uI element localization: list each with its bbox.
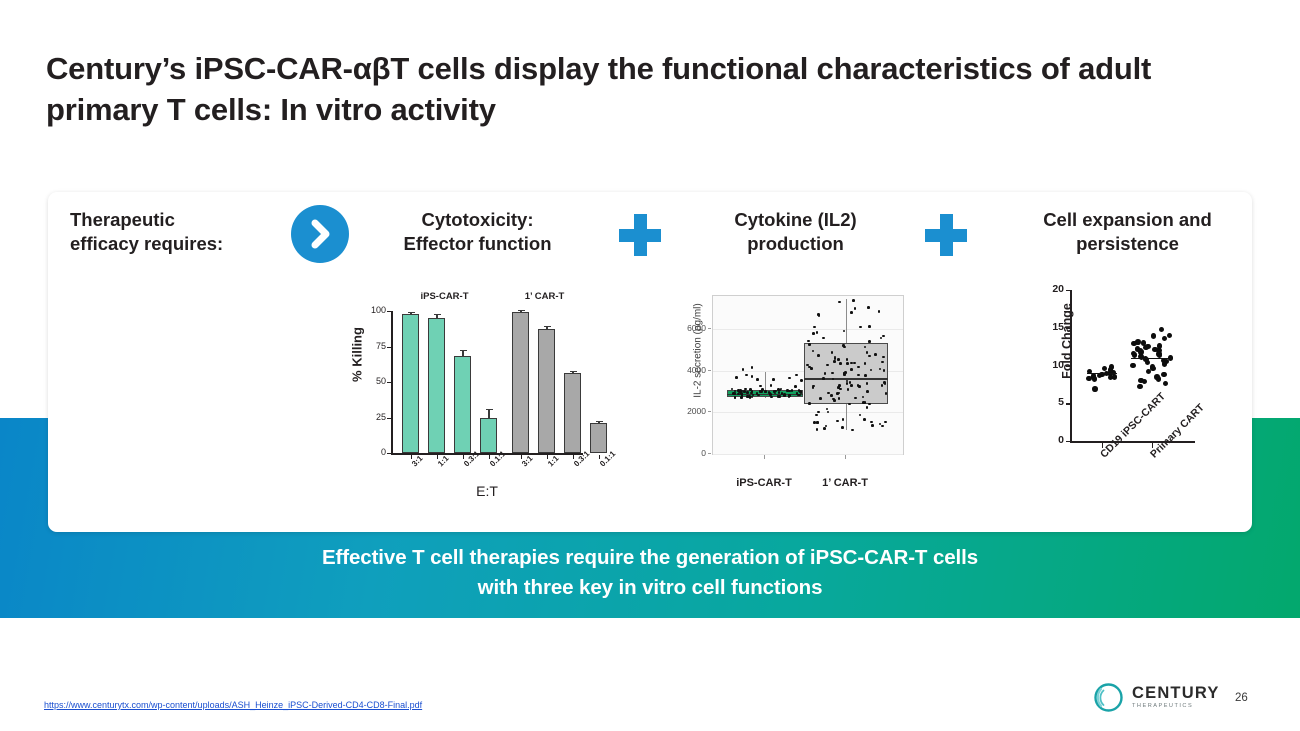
box-data-point <box>794 385 797 388</box>
expansion-heading: Cell expansion and persistence <box>1005 208 1250 255</box>
box-data-point <box>866 406 869 409</box>
scatter-point <box>1162 361 1167 366</box>
scatter-point <box>1151 333 1156 338</box>
cytokine-line-2: production <box>678 232 913 256</box>
scatter-y-tick-label: 10 <box>1038 359 1064 371</box>
box-data-point <box>822 337 825 340</box>
box-data-point <box>826 408 829 411</box>
requires-heading: Therapeutic efficacy requires: <box>70 208 285 255</box>
error-bar-cap <box>486 409 493 410</box>
bar-group-title-primary: 1’ CAR-T <box>502 291 587 302</box>
bar-y-tick-label: 75 <box>358 341 386 351</box>
bar-y-tick-mark <box>387 311 391 312</box>
box-data-point <box>851 429 854 432</box>
box-data-point <box>874 353 877 356</box>
bar-x-tick-mark <box>521 455 522 459</box>
page-title: Century’s iPSC-CAR-αβT cells display the… <box>46 48 1226 130</box>
bar-x-tick-mark <box>573 455 574 459</box>
box-data-point <box>795 374 798 377</box>
box-data-point <box>852 299 855 302</box>
box-y-tick-label: 0 <box>678 448 706 458</box>
box-data-point <box>839 362 842 365</box>
scatter-y-tick-label: 5 <box>1038 396 1064 408</box>
error-bar-cap <box>596 421 603 422</box>
box-data-point <box>837 358 840 361</box>
error-bar <box>520 311 521 312</box>
error-bar-cap <box>544 326 551 327</box>
box-data-point <box>813 326 816 329</box>
box-data-point <box>751 375 754 378</box>
error-bar <box>546 327 547 328</box>
box-data-point <box>759 385 762 388</box>
bar <box>512 312 529 453</box>
dot-y-axis-label: Fold Change <box>1060 281 1074 401</box>
scatter-point <box>1092 376 1097 381</box>
box-data-point <box>868 403 871 406</box>
plus-icon <box>619 214 661 256</box>
banner-message: Effective T cell therapies require the g… <box>0 543 1300 602</box>
box-gridline <box>713 329 903 330</box>
box-data-point <box>798 394 801 397</box>
cytokine-line-1: Cytokine (IL2) <box>678 208 913 232</box>
scatter-point <box>1137 384 1142 389</box>
box-data-point <box>807 340 810 343</box>
il2-box-plot: IL-2 secretion (pg/ml) 0200040006000 iPS… <box>660 285 930 515</box>
box-data-point <box>868 355 871 358</box>
dot-x-axis <box>1070 441 1195 443</box>
scatter-y-tick-label: 15 <box>1038 321 1064 333</box>
error-bar <box>598 422 599 423</box>
box-data-point <box>867 306 870 309</box>
scatter-point <box>1161 372 1166 377</box>
box-y-tick-mark <box>708 328 711 329</box>
bar-x-tick-mark <box>489 455 490 459</box>
bar-x-tick-mark <box>463 455 464 459</box>
box-data-point <box>850 384 853 387</box>
box-data-point <box>816 331 819 334</box>
box-data-point <box>781 392 784 395</box>
box-data-point <box>812 332 815 335</box>
scatter-y-tick-mark <box>1066 366 1071 367</box>
box-data-point <box>880 337 883 340</box>
bar-y-tick-label: 25 <box>358 412 386 422</box>
box-data-point <box>868 325 871 328</box>
century-logo-mark <box>1092 681 1125 714</box>
bar-plot-area <box>392 311 582 453</box>
cytotoxicity-line-1: Cytotoxicity: <box>360 208 595 232</box>
bar-y-tick-label: 50 <box>358 376 386 386</box>
box-data-point <box>859 326 862 329</box>
chevron-right-icon <box>291 205 349 263</box>
box-y-tick-label: 2000 <box>678 406 706 416</box>
box-y-axis-label: IL-2 secretion (pg/ml) <box>693 276 704 426</box>
box-data-point <box>734 396 737 399</box>
scatter-point <box>1156 376 1161 381</box>
box-data-point <box>761 388 764 391</box>
cytotoxicity-bar-chart: % Killing iPS-CAR-T 1’ CAR-T 0255075100 … <box>330 285 600 510</box>
scatter-y-tick-mark <box>1066 441 1071 442</box>
bar-y-tick-label: 0 <box>358 447 386 457</box>
scatter-mean-line <box>1087 373 1117 374</box>
box-x-tick-mark <box>845 455 846 459</box>
scatter-point <box>1159 327 1164 332</box>
box-data-point <box>859 414 862 417</box>
box-data-point <box>866 390 869 393</box>
bar-y-tick-label: 100 <box>358 305 386 315</box>
scatter-point <box>1132 352 1137 357</box>
box-data-point <box>817 354 820 357</box>
box-data-point <box>830 394 833 397</box>
box-data-point <box>848 403 851 406</box>
box-data-point <box>838 301 841 304</box>
box-data-point <box>826 364 829 367</box>
box-data-point <box>815 414 818 417</box>
box-data-point <box>824 372 827 375</box>
bar-x-axis-label: E:T <box>392 483 582 499</box>
box-data-point <box>823 427 826 430</box>
box-data-point <box>759 390 762 393</box>
box-data-point <box>833 399 836 402</box>
box-data-point <box>838 384 841 387</box>
box-data-point <box>819 397 822 400</box>
scatter-point <box>1150 366 1155 371</box>
box-data-point <box>745 374 748 377</box>
cytokine-heading: Cytokine (IL2) production <box>678 208 913 255</box>
error-bar-cap <box>434 314 441 315</box>
bar <box>402 314 419 453</box>
bar <box>480 418 497 454</box>
box-data-point <box>846 362 849 365</box>
error-bar <box>572 372 573 373</box>
bar-x-tick-mark <box>437 455 438 459</box>
bar-x-tick-mark <box>547 455 548 459</box>
box-data-point <box>833 360 836 363</box>
bar <box>454 356 471 453</box>
expansion-line-1: Cell expansion and <box>1005 208 1250 232</box>
box-data-point <box>756 378 759 381</box>
bar <box>428 318 445 453</box>
scatter-point <box>1142 379 1147 384</box>
box-data-point <box>746 391 749 394</box>
scatter-point <box>1086 376 1091 381</box>
box-data-point <box>822 377 825 380</box>
error-bar <box>410 313 411 314</box>
box-data-point <box>871 424 874 427</box>
century-logo: CENTURY THERAPEUTICS <box>1092 681 1220 714</box>
box-data-point <box>735 376 738 379</box>
box-data-point <box>843 330 846 333</box>
box-data-point <box>863 418 866 421</box>
bar-x-tick-mark <box>599 455 600 459</box>
scatter-point <box>1112 374 1117 379</box>
box-data-point <box>751 366 754 369</box>
box-data-point <box>739 389 742 392</box>
box-data-point <box>764 391 767 394</box>
box-data-point <box>881 384 884 387</box>
box-data-point <box>816 428 819 431</box>
box-data-point <box>769 392 772 395</box>
bar <box>538 329 555 453</box>
box-data-point <box>770 396 773 399</box>
box-data-point <box>864 374 867 377</box>
error-bar-cap <box>570 371 577 372</box>
slide-root: Century’s iPSC-CAR-αβT cells display the… <box>0 0 1300 731</box>
box-data-point <box>881 425 884 428</box>
box-y-tick-label: 4000 <box>678 365 706 375</box>
cytotoxicity-heading: Cytotoxicity: Effector function <box>360 208 595 255</box>
box-data-point <box>740 396 743 399</box>
box-data-point <box>749 388 752 391</box>
box-y-tick-mark <box>708 411 711 412</box>
box-data-point <box>850 311 853 314</box>
box-gridline <box>713 454 903 455</box>
box-data-point <box>816 421 819 424</box>
bar-x-tick-mark <box>411 455 412 459</box>
box-data-point <box>836 420 839 423</box>
box-data-point <box>854 307 857 310</box>
century-logo-wordmark: CENTURY THERAPEUTICS <box>1132 685 1220 710</box>
box-data-point <box>844 371 847 374</box>
box-data-point <box>786 389 789 392</box>
fold-change-scatter: Fold Change 05101520 CD19 iPSC-CARTPrima… <box>1030 282 1245 532</box>
scatter-y-tick-mark <box>1066 328 1071 329</box>
error-bar-cap <box>408 312 415 313</box>
box-data-point <box>808 402 811 405</box>
box-data-point <box>825 425 828 428</box>
scatter-point <box>1145 360 1150 365</box>
error-bar-cap <box>518 310 525 311</box>
source-link[interactable]: https://www.centurytx.com/wp-content/upl… <box>44 700 422 710</box>
scatter-point <box>1143 345 1148 350</box>
box-data-point <box>841 426 844 429</box>
box-x-tick-mark <box>764 455 765 459</box>
box-data-point <box>882 335 885 338</box>
scatter-point <box>1130 363 1135 368</box>
bar-group-title-ips: iPS-CAR-T <box>392 291 497 302</box>
bar <box>590 423 607 453</box>
box-data-point <box>791 389 794 392</box>
box-data-point <box>878 310 881 313</box>
box-data-point <box>846 382 849 385</box>
banner-line-2: with three key in vitro cell functions <box>0 573 1300 603</box>
box-x-tick-label: 1’ CAR-T <box>797 477 893 489</box>
scatter-y-tick-mark <box>1066 290 1071 291</box>
bar-y-tick-mark <box>387 382 391 383</box>
bar-y-tick-mark <box>387 418 391 419</box>
cytotoxicity-line-2: Effector function <box>360 232 595 256</box>
error-bar <box>436 315 437 318</box>
bar-y-tick-mark <box>387 453 391 454</box>
box-data-point <box>818 314 821 317</box>
requires-line-1: Therapeutic <box>70 208 285 232</box>
scatter-point <box>1167 333 1172 338</box>
box-data-point <box>740 392 743 395</box>
bar <box>564 373 581 453</box>
plus-icon <box>925 214 967 256</box>
scatter-point <box>1163 381 1168 386</box>
box-data-point <box>788 396 791 399</box>
box-data-point <box>812 385 815 388</box>
error-bar <box>488 410 489 418</box>
box-data-point <box>800 379 803 382</box>
scatter-x-tick-label: Primary CART <box>1148 402 1207 461</box>
box-data-point <box>799 390 802 393</box>
requires-line-2: efficacy requires: <box>70 232 285 256</box>
box-data-point <box>842 344 845 347</box>
box-data-point <box>808 343 811 346</box>
bar-y-tick-mark <box>387 347 391 348</box>
box-y-tick-mark <box>708 453 711 454</box>
box-data-point <box>831 372 834 375</box>
box-data-point <box>788 377 791 380</box>
box-data-point <box>772 378 775 381</box>
logo-tagline: THERAPEUTICS <box>1132 704 1220 710</box>
scatter-y-tick-label: 20 <box>1038 283 1064 295</box>
box-data-point <box>770 384 773 387</box>
scatter-point <box>1092 386 1097 391</box>
box-data-point <box>850 368 853 371</box>
logo-name: CENTURY <box>1132 685 1220 702</box>
box-data-point <box>857 384 860 387</box>
error-bar-cap <box>460 350 467 351</box>
scatter-point <box>1162 336 1167 341</box>
expansion-line-2: persistence <box>1005 232 1250 256</box>
box-data-point <box>746 395 749 398</box>
scatter-point <box>1146 369 1151 374</box>
scatter-y-tick-label: 0 <box>1038 434 1064 446</box>
box-y-tick-mark <box>708 370 711 371</box>
box-data-point <box>743 390 746 393</box>
banner-line-1: Effective T cell therapies require the g… <box>0 543 1300 573</box>
box-plot-area <box>712 295 904 455</box>
box-data-point <box>884 421 887 424</box>
page-number: 26 <box>1235 692 1248 704</box>
box-gridline <box>713 412 903 413</box>
bar-y-axis-label: % Killing <box>350 310 365 400</box>
box-data-point <box>778 391 781 394</box>
box-data-point <box>882 356 885 359</box>
scatter-mean-line <box>1131 358 1173 359</box>
scatter-y-tick-mark <box>1066 403 1071 404</box>
box-data-point <box>868 340 871 343</box>
error-bar <box>462 351 463 357</box>
box-y-tick-label: 6000 <box>678 323 706 333</box>
box-data-point <box>842 418 845 421</box>
